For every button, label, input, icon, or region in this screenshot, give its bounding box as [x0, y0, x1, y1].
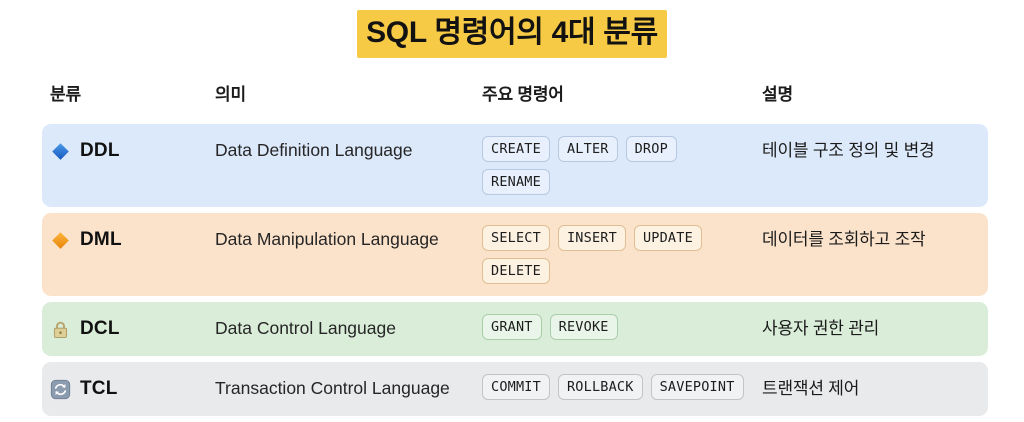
cell-category: DML — [42, 225, 215, 255]
table-row: DDL Data Definition Language CREATE ALTE… — [42, 124, 988, 207]
column-header-category: 분류 — [50, 80, 81, 105]
command-chip[interactable]: ALTER — [558, 136, 618, 162]
refresh-arrows-icon — [50, 379, 71, 400]
column-header-description: 설명 — [762, 80, 793, 105]
command-chip[interactable]: CREATE — [482, 136, 550, 162]
cell-meaning: Data Control Language — [215, 314, 482, 342]
cell-commands: GRANT REVOKE — [482, 314, 762, 340]
command-chip[interactable]: COMMIT — [482, 374, 550, 400]
cell-category: TCL — [42, 374, 215, 404]
table-body: DDL Data Definition Language CREATE ALTE… — [42, 124, 988, 422]
column-header-meaning: 의미 — [215, 80, 246, 105]
category-label: DDL — [80, 140, 120, 162]
page-title: SQL 명령어의 4대 분류 — [0, 10, 1024, 58]
table-row: DCL Data Control Language GRANT REVOKE 사… — [42, 302, 988, 356]
table-row: TCL Transaction Control Language COMMIT … — [42, 362, 988, 416]
category-label: DCL — [80, 318, 120, 340]
lock-icon — [50, 319, 71, 340]
orange-diamond-icon — [50, 230, 71, 251]
page-title-text: SQL 명령어의 4대 분류 — [357, 10, 667, 58]
cell-description: 사용자 권한 관리 — [762, 314, 988, 342]
command-chip[interactable]: DROP — [626, 136, 677, 162]
cell-description: 테이블 구조 정의 및 변경 — [762, 136, 988, 164]
command-chip[interactable]: GRANT — [482, 314, 542, 340]
cell-description: 데이터를 조회하고 조작 — [762, 225, 988, 253]
category-label: TCL — [80, 378, 118, 400]
table-header-row: 분류 의미 주요 명령어 설명 — [42, 80, 988, 114]
column-header-commands: 주요 명령어 — [482, 80, 564, 105]
cell-category: DCL — [42, 314, 215, 344]
cell-meaning: Data Manipulation Language — [215, 225, 482, 253]
cell-category: DDL — [42, 136, 215, 166]
cell-description: 트랜잭션 제어 — [762, 374, 988, 402]
cell-meaning: Transaction Control Language — [215, 374, 482, 402]
command-chip[interactable]: ROLLBACK — [558, 374, 643, 400]
command-chip[interactable]: SAVEPOINT — [651, 374, 744, 400]
table-row: DML Data Manipulation Language SELECT IN… — [42, 213, 988, 296]
cell-commands: SELECT INSERT UPDATE DELETE — [482, 225, 762, 284]
command-chip[interactable]: REVOKE — [550, 314, 618, 340]
blue-diamond-icon — [50, 141, 71, 162]
command-chip[interactable]: UPDATE — [634, 225, 702, 251]
command-chip[interactable]: SELECT — [482, 225, 550, 251]
command-chip[interactable]: RENAME — [482, 169, 550, 195]
cell-commands: COMMIT ROLLBACK SAVEPOINT — [482, 374, 762, 400]
command-chip[interactable]: INSERT — [558, 225, 626, 251]
command-chip[interactable]: DELETE — [482, 258, 550, 284]
category-label: DML — [80, 229, 122, 251]
cell-meaning: Data Definition Language — [215, 136, 482, 164]
cell-commands: CREATE ALTER DROP RENAME — [482, 136, 762, 195]
